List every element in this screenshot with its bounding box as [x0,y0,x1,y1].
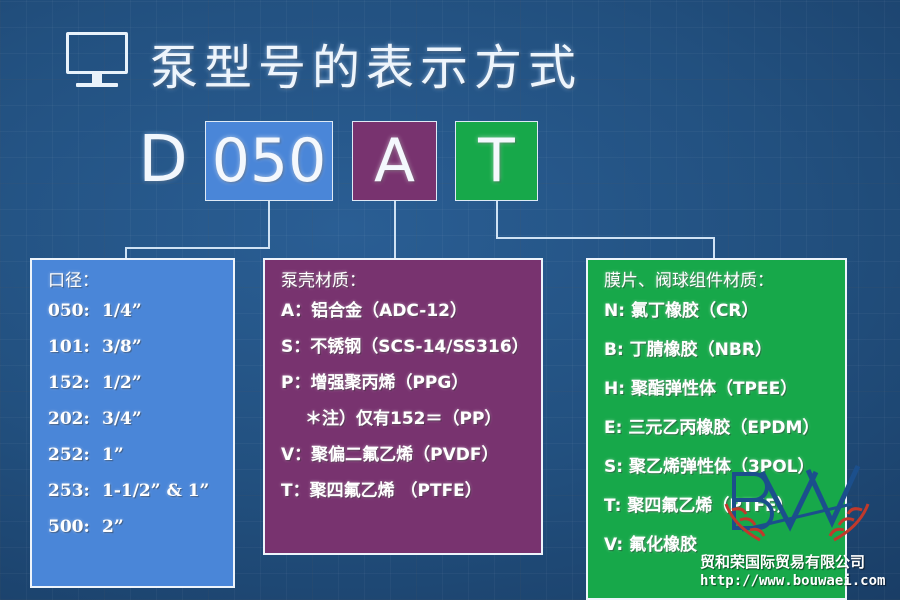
panel-diaphragm-row: B: 丁腈橡胶（NBR） [604,340,831,361]
panel-bore-row-value: 1/2” [102,373,142,393]
panel-bore: 口径： 050:1/4” 101:3/8” 152:1/2” 202:3/4” … [30,258,235,588]
panel-casing-row: P：增强聚丙烯（PPG） [281,373,527,394]
connector-bore-horizontal [125,247,270,249]
panel-diaphragm-row: H: 聚酯弹性体（TPEE） [604,379,831,400]
code-segment-casing[interactable]: A [352,121,437,201]
panel-diaphragm-row: T: 聚四氟乙烯（PTFE） [604,496,831,517]
connector-diaphragm-vertical-top [496,201,498,239]
panel-casing-row: S：不锈钢（SCS-14/SS316） [281,337,527,358]
panel-bore-row-code: 050: [48,301,102,322]
panel-bore-row-code: 252: [48,445,102,466]
panel-bore-row-value: 3/8” [102,337,142,357]
connector-casing-vertical [394,201,396,259]
panel-bore-row: 050:1/4” [48,301,219,322]
panel-diaphragm: 膜片、阀球组件材质： N: 氯丁橡胶（CR） B: 丁腈橡胶（NBR） H: 聚… [586,258,847,600]
panel-bore-row: 252:1” [48,445,219,466]
panel-diaphragm-row: S: 聚乙烯弹性体（3POL） [604,457,831,478]
panel-bore-row-code: 152: [48,373,102,394]
panel-bore-row-value: 1” [102,445,124,465]
panel-casing-row: T：聚四氟乙烯 （PTFE） [281,481,527,502]
panel-bore-row-value: 1-1/2” & 1” [102,481,209,501]
panel-bore-row: 253:1-1/2” & 1” [48,481,219,502]
panel-bore-row-value: 2” [102,517,124,537]
code-segment-bore[interactable]: 050 [205,121,333,201]
monitor-icon [66,32,132,88]
panel-bore-row-value: 3/4” [102,409,142,429]
panel-bore-row-code: 253: [48,481,102,502]
code-prefix-letter: D [136,120,190,200]
panel-casing-row: A：铝合金（ADC-12） [281,301,527,322]
panel-bore-row: 500:2” [48,517,219,538]
panel-diaphragm-row: V: 氟化橡胶 [604,535,831,556]
panel-casing-title: 泵壳材质： [281,270,527,292]
monitor-screen [66,32,128,74]
slide-canvas: 泵型号的表示方式 D 050 A T 口径： 050:1/4” 101:3/8”… [0,0,900,600]
panel-bore-row: 101:3/8” [48,337,219,358]
monitor-base [76,83,118,87]
panel-bore-row: 202:3/4” [48,409,219,430]
panel-bore-row-code: 202: [48,409,102,430]
panel-diaphragm-title: 膜片、阀球组件材质： [604,270,831,292]
panel-bore-row-code: 500: [48,517,102,538]
panel-casing-row-note: ＊注）仅有152＝（PP） [281,409,527,430]
page-title: 泵型号的表示方式 [150,28,582,98]
connector-diaphragm-vertical-bottom [713,237,715,260]
panel-diaphragm-row: E: 三元乙丙橡胶（EPDM） [604,418,831,439]
panel-bore-title: 口径： [48,270,219,292]
connector-diaphragm-horizontal [496,237,715,239]
panel-casing: 泵壳材质： A：铝合金（ADC-12） S：不锈钢（SCS-14/SS316） … [263,258,543,555]
code-segment-diaphragm[interactable]: T [455,121,538,201]
panel-diaphragm-row: N: 氯丁橡胶（CR） [604,301,831,322]
connector-bore-vertical-top [268,201,270,249]
panel-bore-row-value: 1/4” [102,301,142,321]
panel-bore-row-code: 101: [48,337,102,358]
panel-casing-row: V：聚偏二氟乙烯（PVDF） [281,445,527,466]
panel-bore-row: 152:1/2” [48,373,219,394]
monitor-neck [92,74,102,83]
